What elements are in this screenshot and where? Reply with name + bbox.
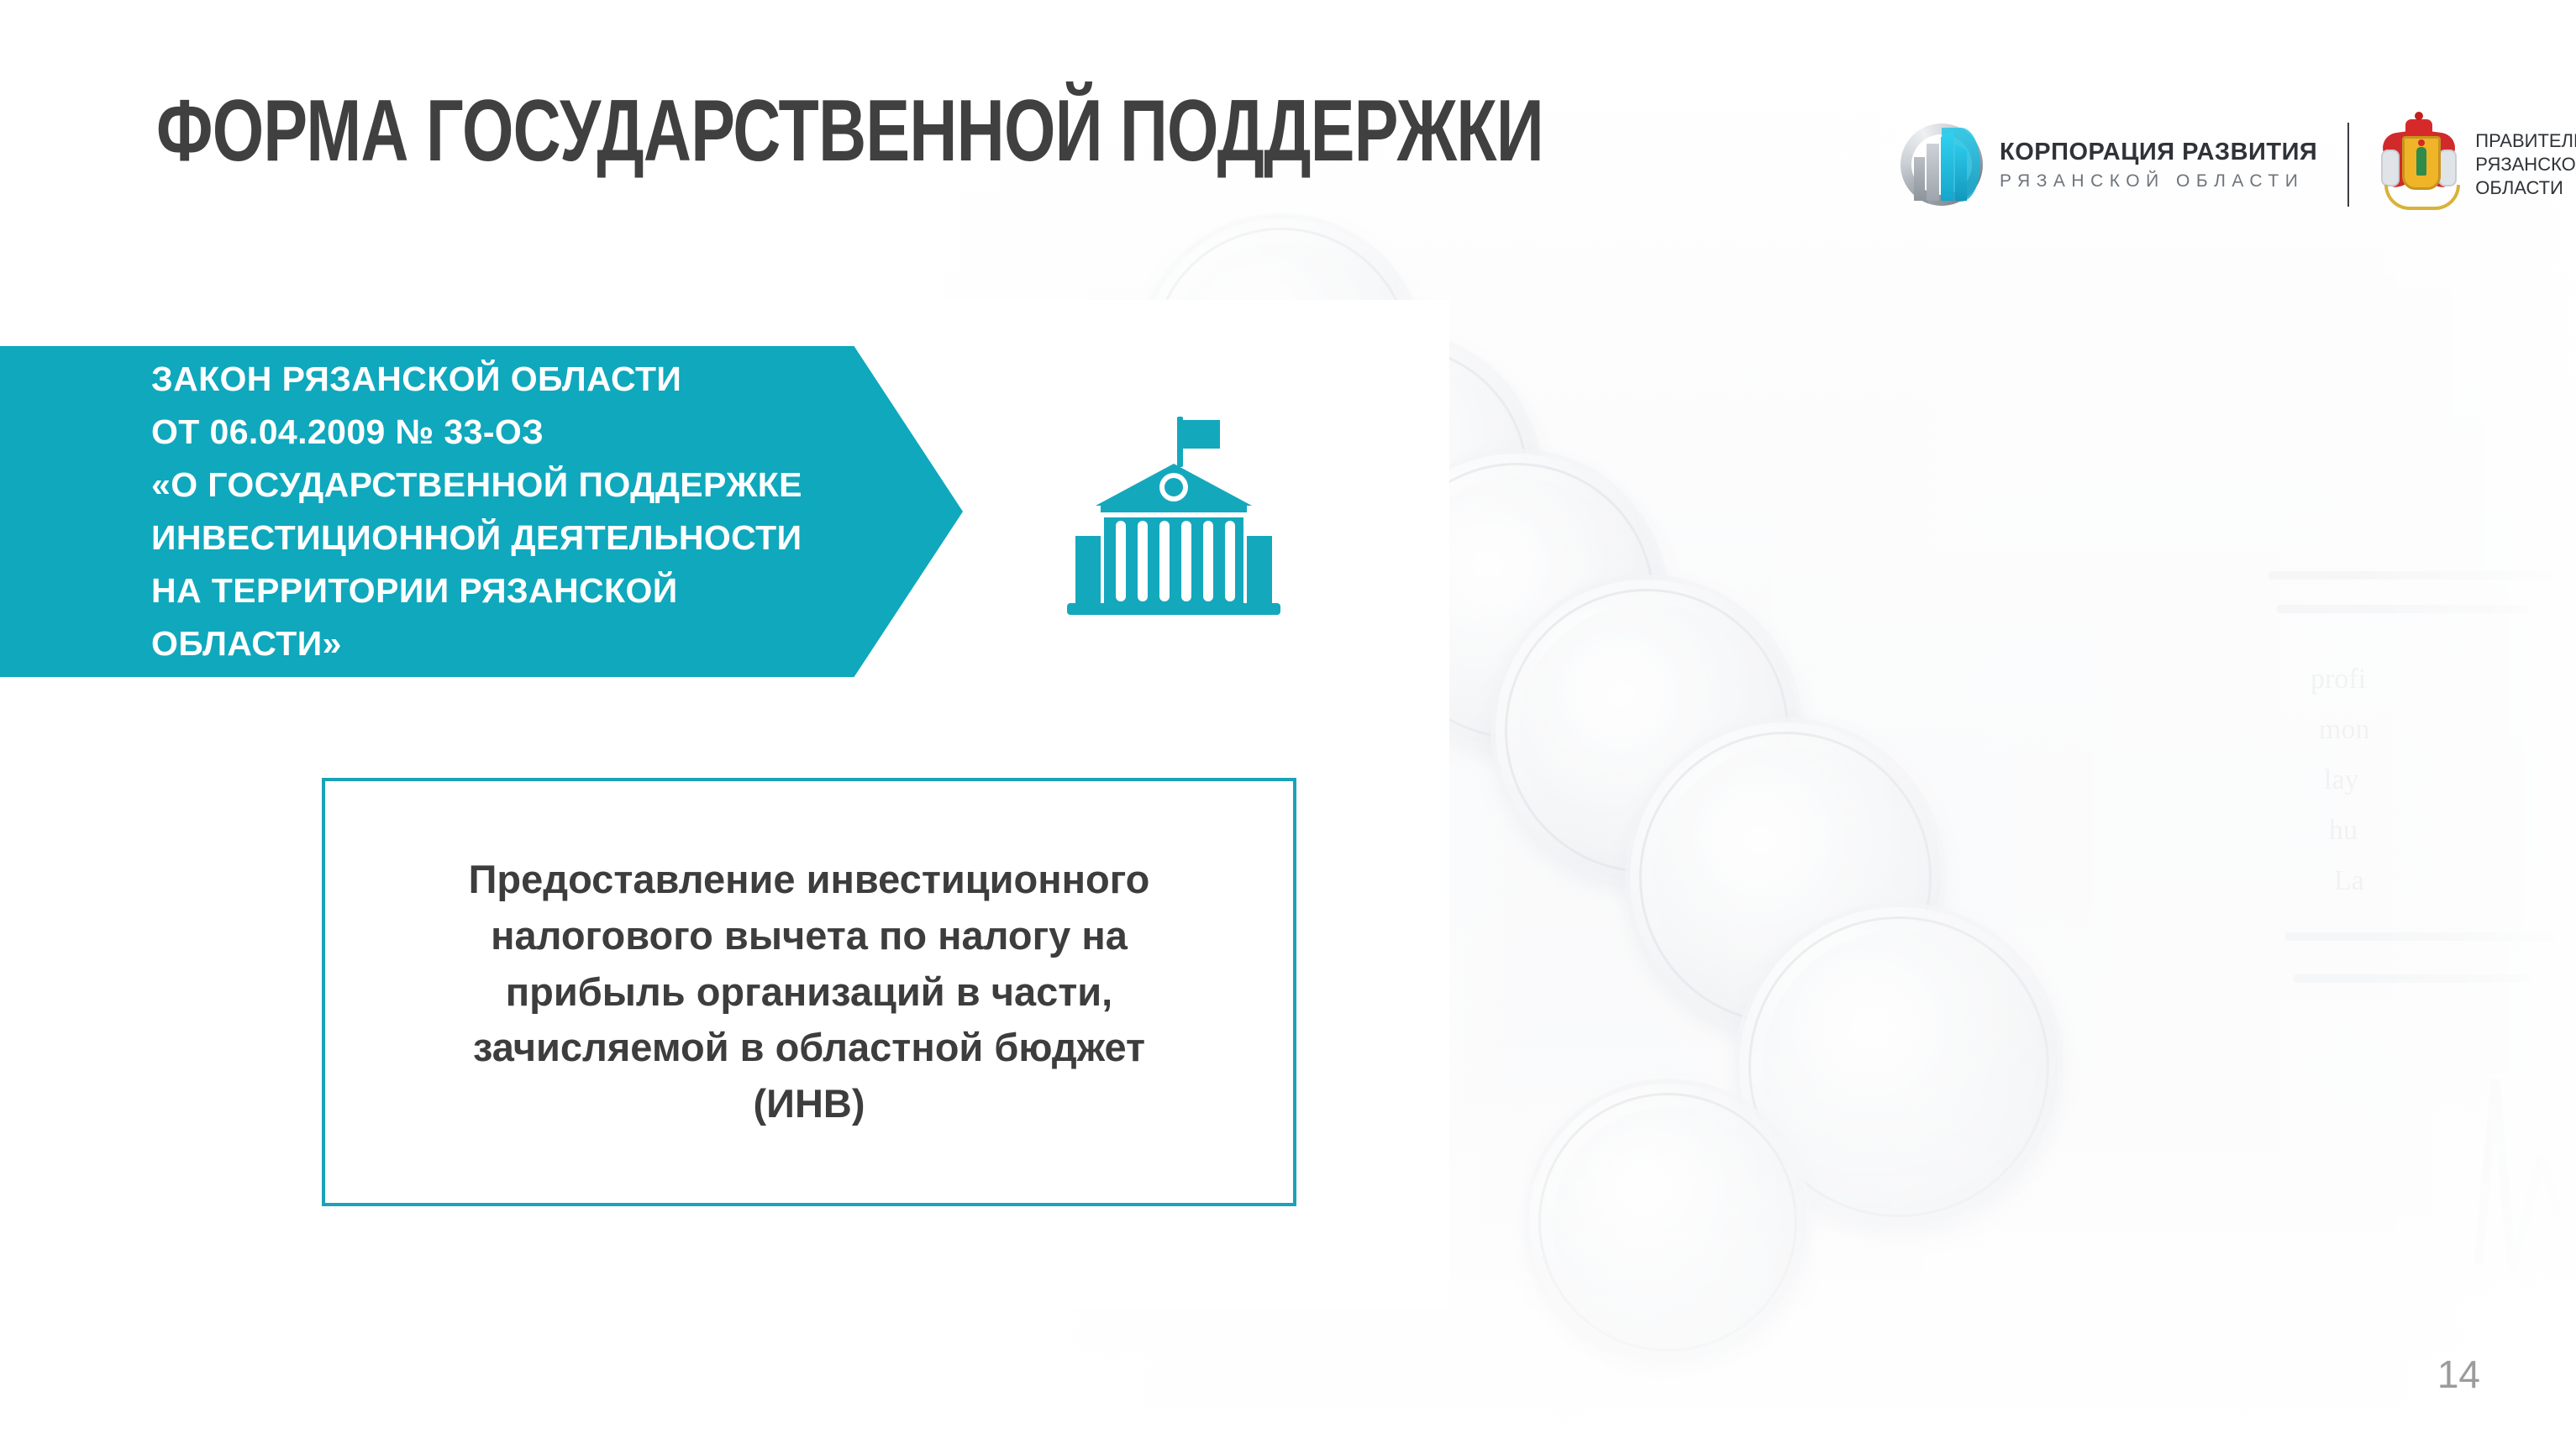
corporation-logo-text: КОРПОРАЦИЯ РАЗВИТИЯ РЯЗАНСКОЙ ОБЛАСТИ bbox=[2000, 140, 2317, 190]
ryazan-oblast-coat-of-arms-icon bbox=[2379, 119, 2458, 210]
coin bbox=[1739, 907, 2058, 1226]
statement-line-3: прибыль организаций в части, bbox=[431, 964, 1187, 1021]
statement-line-2: налогового вычета по налогу на bbox=[431, 908, 1187, 964]
law-banner-line-1: ЗАКОН РЯЗАНСКОЙ ОБЛАСТИ bbox=[151, 353, 802, 406]
government-logo-line3: ОБЛАСТИ bbox=[2475, 176, 2576, 200]
ghost-word: lay bbox=[2324, 764, 2359, 796]
law-banner: ЗАКОН РЯЗАНСКОЙ ОБЛАСТИ ОТ 06.04.2009 № … bbox=[0, 346, 963, 677]
paper-line bbox=[2294, 974, 2529, 983]
financial-chart-line bbox=[2462, 907, 2576, 1344]
law-banner-line-5: НА ТЕРРИТОРИИ РЯЗАНСКОЙ bbox=[151, 564, 802, 617]
ghost-word: La bbox=[2334, 865, 2364, 897]
ghost-word: profi bbox=[2311, 664, 2366, 696]
government-logo-line2: РЯЗАНСКОЙ bbox=[2475, 153, 2576, 176]
coin bbox=[1496, 580, 1798, 882]
page-title: ФОРМА ГОСУДАРСТВЕННОЙ ПОДДЕРЖКИ bbox=[156, 87, 1543, 175]
statement-line-5: (ИНВ) bbox=[431, 1076, 1187, 1132]
law-banner-line-6: ОБЛАСТИ» bbox=[151, 617, 802, 670]
law-banner-line-4: ИНВЕСТИЦИОННОЙ ДЕЯТЕЛЬНОСТИ bbox=[151, 512, 802, 564]
law-banner-line-3: «О ГОСУДАРСТВЕННОЙ ПОДДЕРЖКЕ bbox=[151, 459, 802, 512]
coin bbox=[1630, 722, 1941, 1033]
corporation-logo-line2: РЯЗАНСКОЙ ОБЛАСТИ bbox=[2000, 172, 2317, 190]
korporaciya-razvitiya-mark-icon bbox=[1900, 123, 1983, 206]
ghost-word: hu bbox=[2329, 815, 2358, 847]
law-banner-text: ЗАКОН РЯЗАНСКОЙ ОБЛАСТИ ОТ 06.04.2009 № … bbox=[151, 353, 802, 671]
government-logo-text: ПРАВИТЕЛЬСТВО РЯЗАНСКОЙ ОБЛАСТИ bbox=[2475, 129, 2576, 200]
paper-line bbox=[2268, 571, 2554, 580]
statement-text: Предоставление инвестиционного налоговог… bbox=[431, 852, 1187, 1132]
statement-line-1: Предоставление инвестиционного bbox=[431, 852, 1187, 908]
government-logo: ПРАВИТЕЛЬСТВО РЯЗАНСКОЙ ОБЛАСТИ bbox=[2379, 119, 2576, 210]
law-banner-line-2: ОТ 06.04.2009 № 33-ОЗ bbox=[151, 406, 802, 459]
corporation-logo: КОРПОРАЦИЯ РАЗВИТИЯ РЯЗАНСКОЙ ОБЛАСТИ bbox=[1900, 123, 2317, 206]
coin bbox=[1529, 1084, 1806, 1361]
page-number: 14 bbox=[2437, 1352, 2480, 1397]
slide-root: 6,500 6,250 6,000 profi mon lay hu La ФО… bbox=[0, 0, 2576, 1449]
paper-line bbox=[2285, 932, 2554, 941]
ghost-word: mon bbox=[2319, 714, 2369, 746]
statement-box: Предоставление инвестиционного налоговог… bbox=[322, 778, 1296, 1206]
logo-divider bbox=[2347, 123, 2349, 207]
corporation-logo-line1: КОРПОРАЦИЯ РАЗВИТИЯ bbox=[2000, 140, 2317, 165]
government-building-icon bbox=[1060, 412, 1287, 622]
government-logo-line1: ПРАВИТЕЛЬСТВО bbox=[2475, 129, 2576, 153]
logo-bar: КОРПОРАЦИЯ РАЗВИТИЯ РЯЗАНСКОЙ ОБЛАСТИ ПР… bbox=[1900, 114, 2576, 215]
statement-line-4: зачисляемой в областной бюджет bbox=[431, 1020, 1187, 1076]
paper-line bbox=[2277, 605, 2529, 613]
